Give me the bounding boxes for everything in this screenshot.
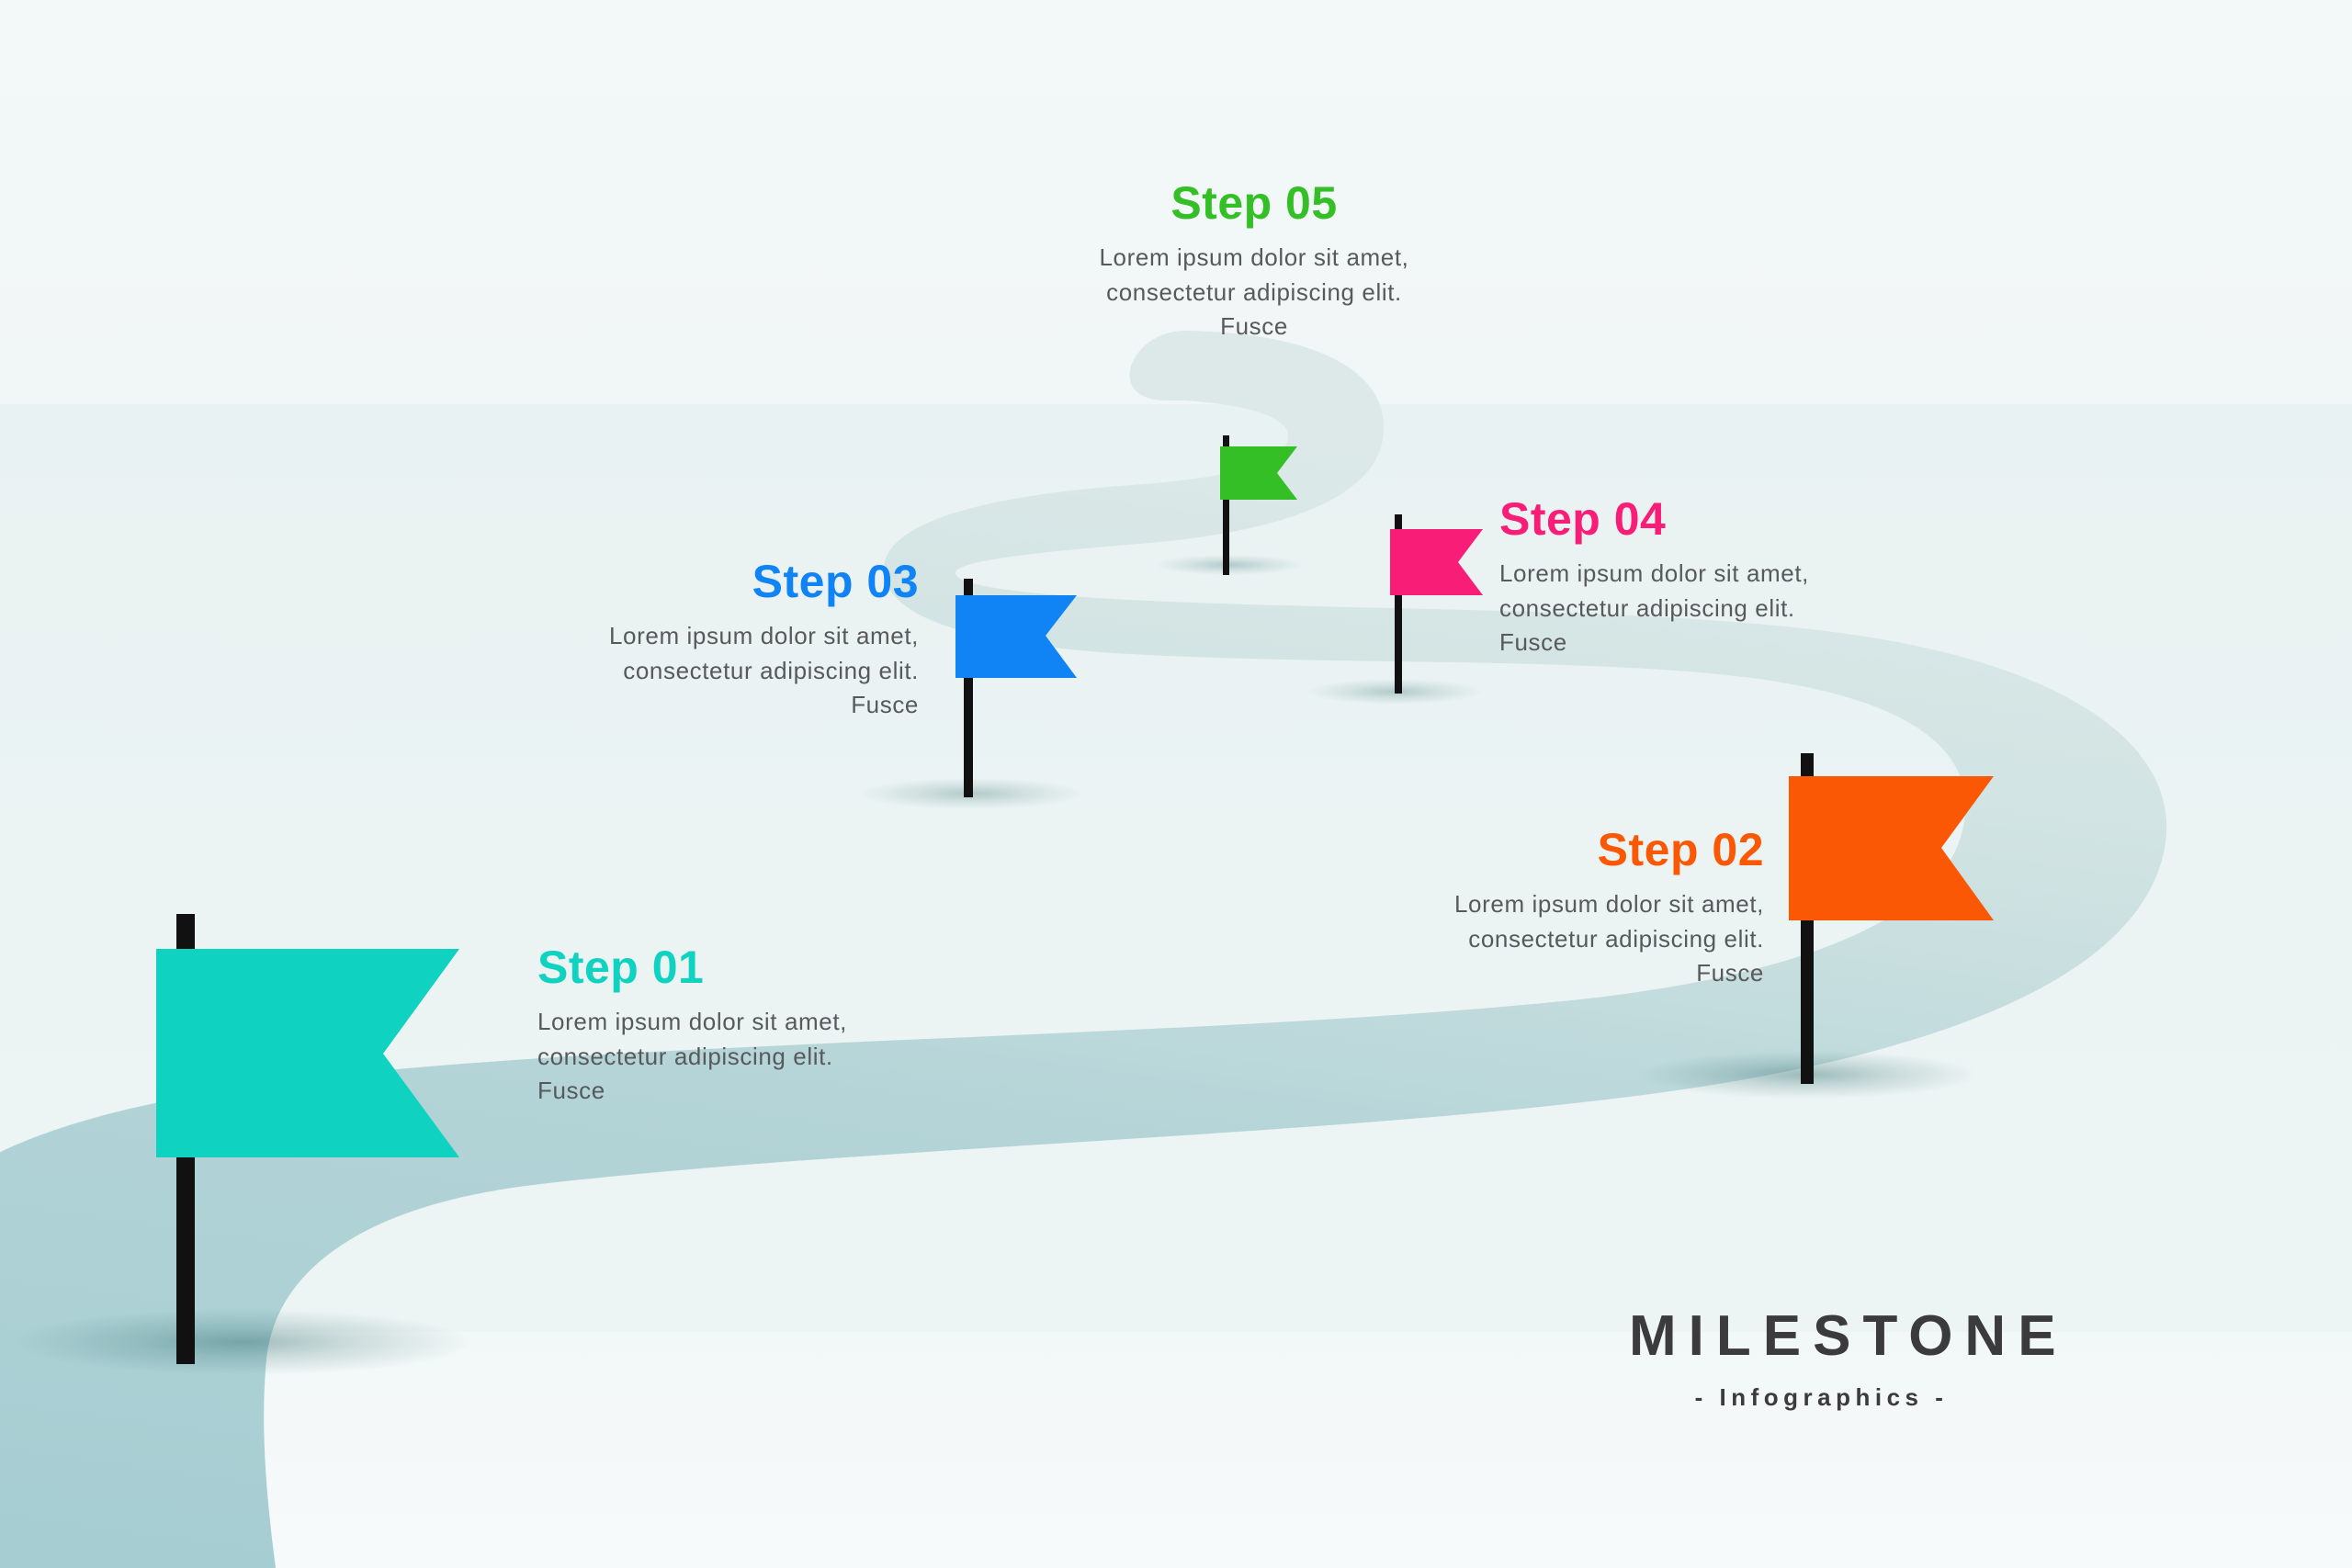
- step-text-block-01: Step 01 Lorem ipsum dolor sit amet, cons…: [537, 944, 905, 1109]
- flag-banner-step-01: [156, 949, 459, 1157]
- flag-banner-step-04: [1390, 529, 1483, 595]
- step-body-04: Lorem ipsum dolor sit amet, consectetur …: [1499, 557, 1849, 660]
- flag-marker-step-03[interactable]: [937, 579, 1093, 804]
- flag-marker-step-05[interactable]: [1213, 435, 1314, 578]
- logo-title: MILESTONE: [1617, 1308, 2021, 1365]
- step-body-02: Lorem ipsum dolor sit amet, consectetur …: [1406, 887, 1764, 991]
- flag-marker-step-02[interactable]: [1764, 753, 2021, 1093]
- step-title-03: Step 03: [588, 558, 919, 604]
- milestone-logo: MILESTONE - Infographics -: [1617, 1308, 2021, 1409]
- infographic-canvas: Step 05 Lorem ipsum dolor sit amet, cons…: [0, 0, 2352, 1568]
- step-body-05: Lorem ipsum dolor sit amet, consectetur …: [1084, 241, 1424, 344]
- step-text-block-03: Step 03 Lorem ipsum dolor sit amet, cons…: [588, 558, 919, 723]
- step-title-02: Step 02: [1406, 827, 1764, 873]
- step-title-01: Step 01: [537, 944, 905, 990]
- flag-banner-step-02: [1789, 776, 1994, 920]
- step-title-04: Step 04: [1499, 496, 1849, 542]
- flag-banner-step-05: [1220, 446, 1297, 500]
- flag-banner-step-03: [955, 595, 1077, 678]
- step-text-block-02: Step 02 Lorem ipsum dolor sit amet, cons…: [1406, 827, 1764, 991]
- step-body-01: Lorem ipsum dolor sit amet, consectetur …: [537, 1005, 905, 1109]
- flag-marker-step-04[interactable]: [1374, 514, 1498, 698]
- step-title-05: Step 05: [1084, 180, 1424, 226]
- flag-marker-step-01[interactable]: [119, 914, 505, 1382]
- step-body-03: Lorem ipsum dolor sit amet, consectetur …: [588, 619, 919, 723]
- logo-subtitle: - Infographics -: [1617, 1385, 2021, 1409]
- step-text-block-04: Step 04 Lorem ipsum dolor sit amet, cons…: [1499, 496, 1849, 660]
- step-text-block-05: Step 05 Lorem ipsum dolor sit amet, cons…: [1084, 180, 1424, 344]
